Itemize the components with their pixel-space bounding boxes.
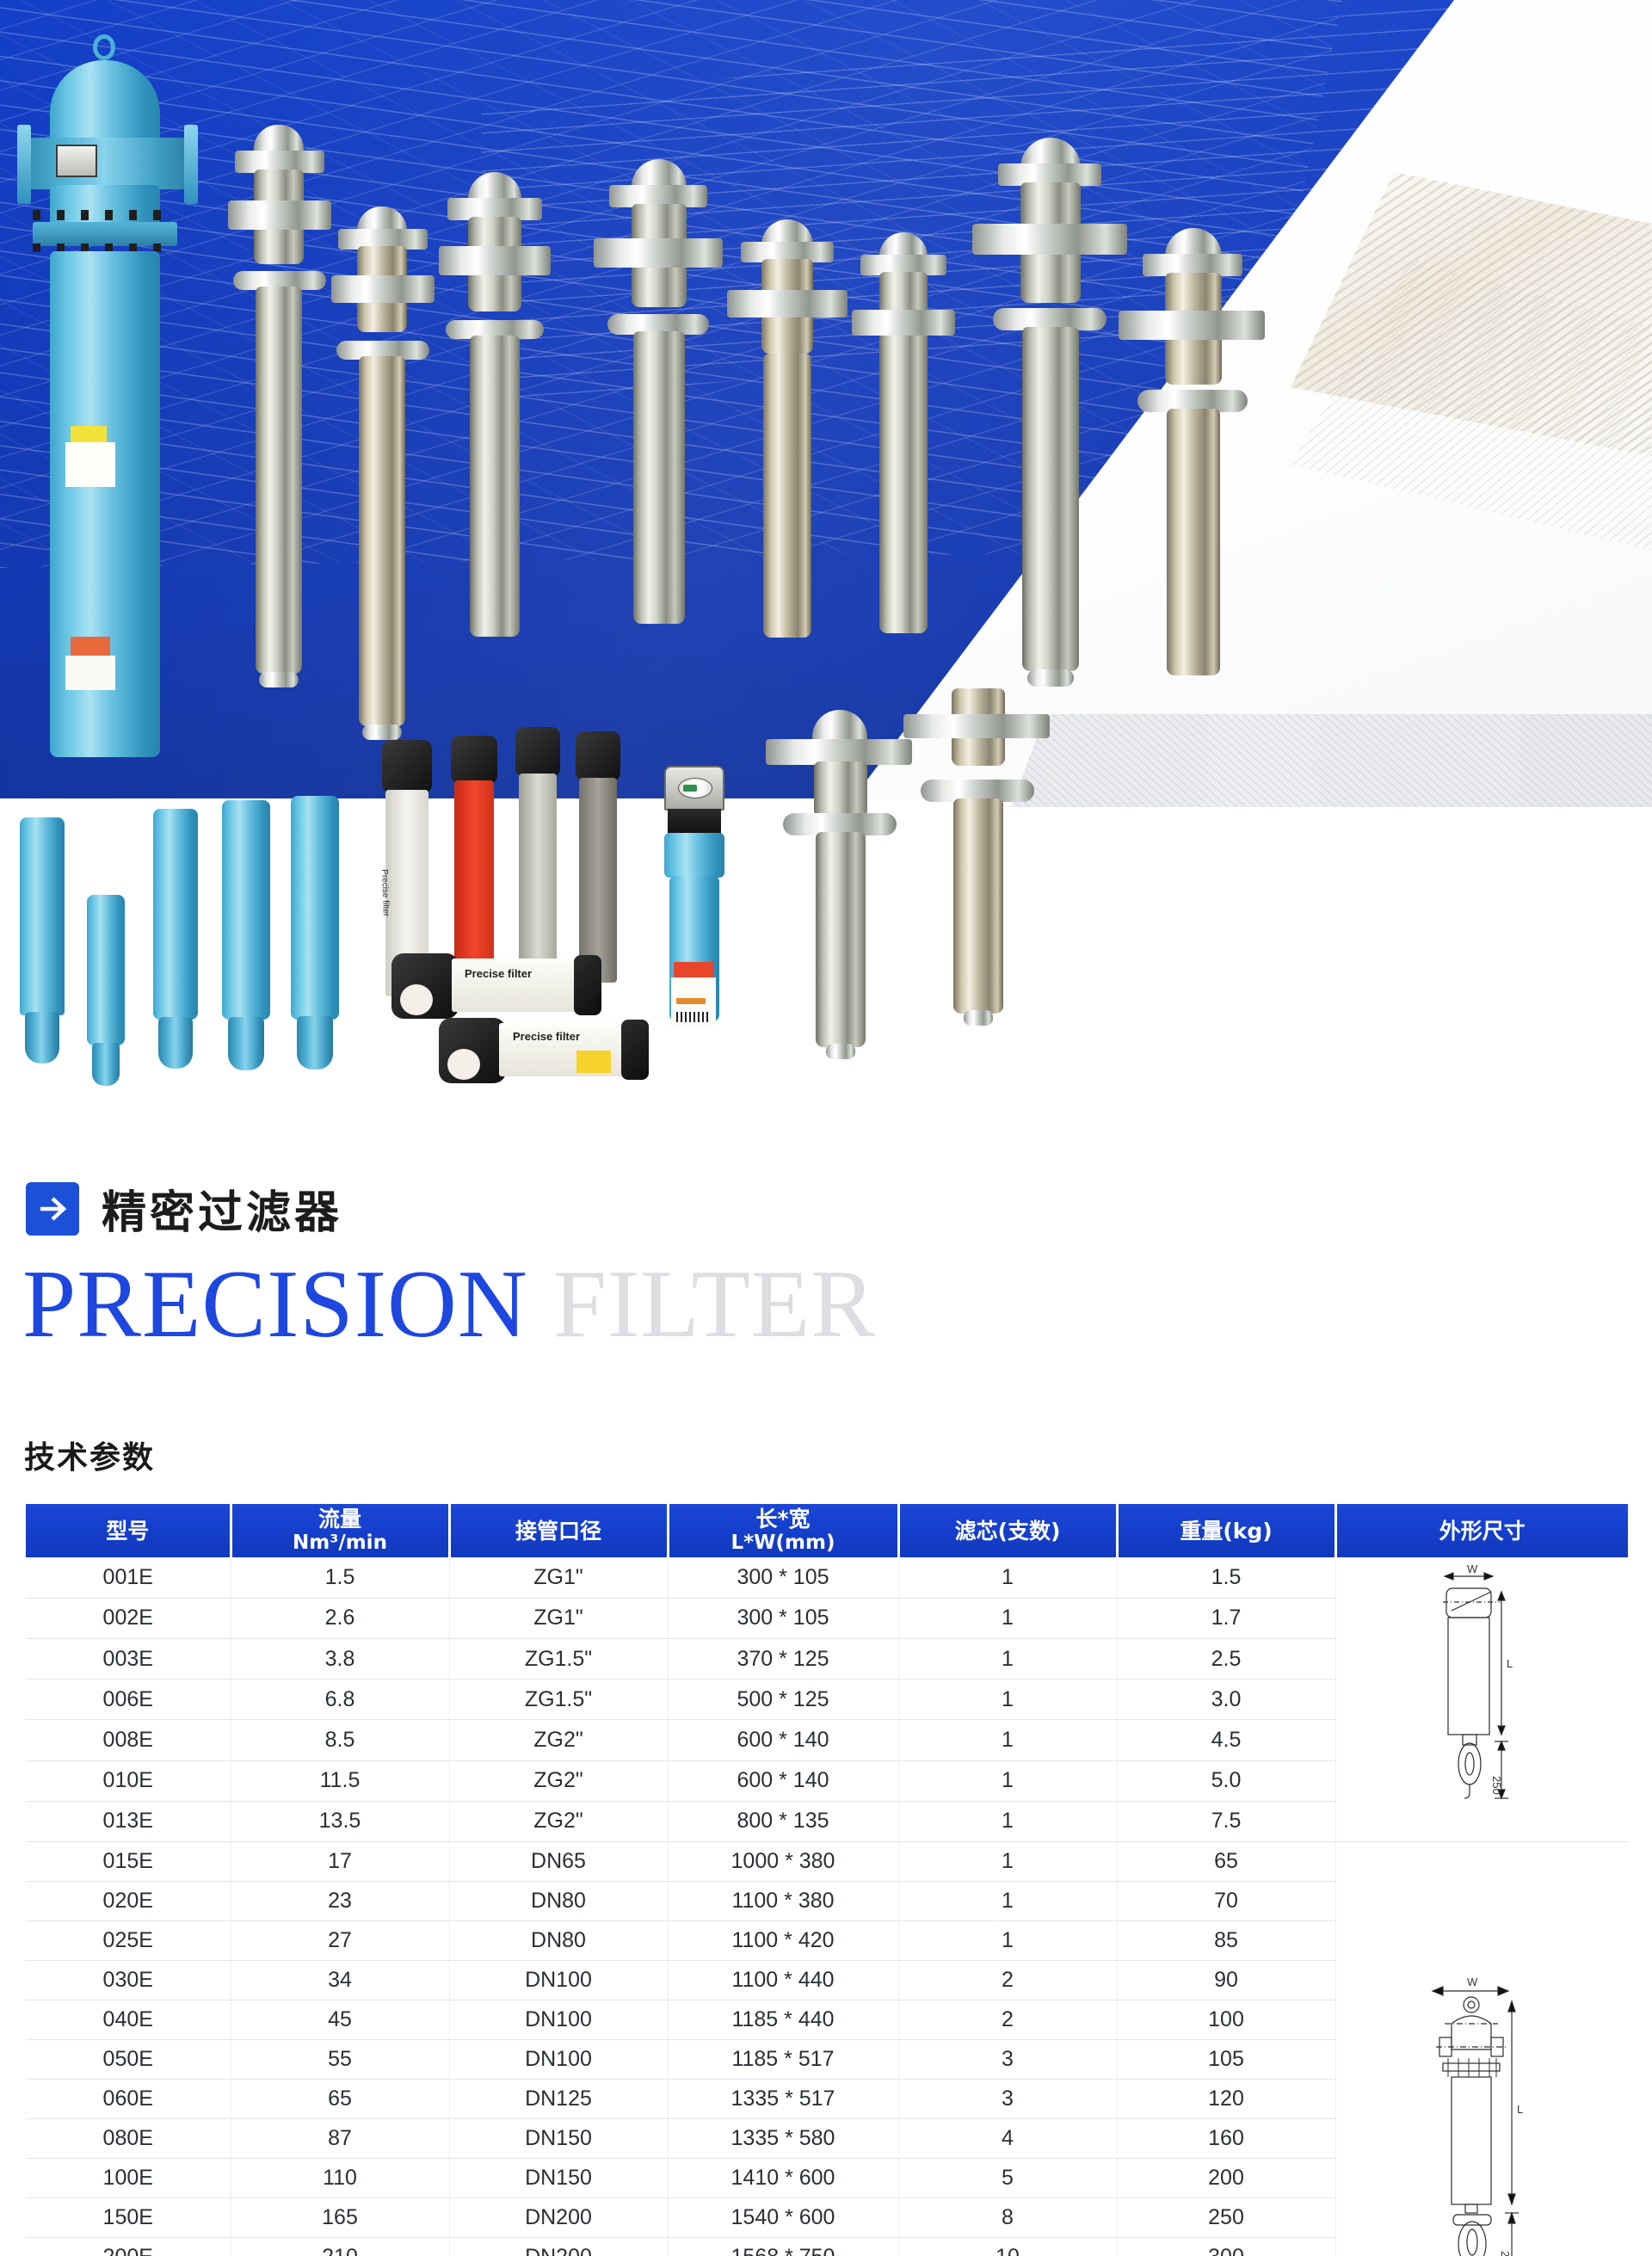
cell-weight: 7.5 [1117,1801,1335,1841]
steel-filter-vessel-6 [852,232,955,663]
cell-cartridges: 1 [898,1720,1117,1760]
cell-port: DN150 [449,2119,668,2159]
cell-cartridges: 5 [898,2159,1117,2198]
specifications-table: 型号 流量 Nm³/min 接管口径 长*宽 L*W(mm) 滤芯(支数) 重量 [26,1504,1628,2256]
catalog-page: Precise filter Precise filter Precise fi… [0,0,1652,2256]
col-header-dimensions-sub: L*W(mm) [669,1532,897,1555]
cyan-inline-filter-5 [284,796,348,1084]
cell-flow: 110 [231,2159,449,2198]
cell-port: DN100 [449,2040,668,2080]
table-header-row: 型号 流量 Nm³/min 接管口径 长*宽 L*W(mm) 滤芯(支数) 重量 [26,1504,1628,1557]
cell-port: DN80 [449,1921,668,1961]
cell-weight: 70 [1117,1882,1335,1921]
cyan-filter-with-gauge [645,766,740,1076]
tech-params-label: 技术参数 [24,1433,155,1477]
cell-cartridges: 4 [898,2119,1117,2159]
cell-weight: 90 [1117,1961,1335,2000]
cell-port: ZG2" [449,1760,668,1801]
cell-flow: 3.8 [231,1638,449,1679]
cell-flow: 165 [231,2198,449,2238]
chinese-title-row: 精密过滤器 [0,1157,1652,1241]
cartridge-brand-label-2: Precise filter [513,1030,580,1043]
cell-port: DN100 [449,1961,668,2000]
cell-dimensions: 600 * 140 [668,1720,898,1760]
col-header-flow-main: 流量 [318,1507,361,1532]
cyan-inline-filter-3 [146,809,206,1084]
cell-dimensions: 1335 * 517 [668,2080,898,2119]
page-title-en-weak: FILTER [553,1251,876,1358]
col-header-dimensions: 长*宽 L*W(mm) [668,1504,898,1557]
cell-dimensions: 500 * 125 [668,1680,898,1720]
cell-dimensions: 800 * 135 [668,1801,898,1841]
steel-filter-vessel-4 [594,159,723,641]
cell-cartridges: 3 [898,2080,1117,2119]
cell-dimensions: 1185 * 517 [668,2040,898,2080]
product-label [71,637,110,656]
cell-weight: 5.0 [1117,1760,1335,1801]
cell-model: 008E [26,1720,231,1760]
steel-filter-vessel-1 [228,125,331,693]
cell-model: 003E [26,1638,231,1679]
cell-model: 015E [26,1842,231,1882]
arrow-right-icon [26,1182,79,1236]
large-filter-outline-drawing: W L 250 [1383,1967,1581,2256]
cell-cartridges: 2 [898,2000,1117,2040]
steel-filter-vessel-8 [1119,228,1265,710]
cell-model: 002E [26,1598,231,1638]
cell-cartridges: 10 [898,2238,1117,2256]
cell-flow: 27 [231,1921,449,1961]
col-header-cartridges: 滤芯(支数) [898,1504,1117,1557]
col-header-outline-main: 外形尺寸 [1439,1519,1526,1544]
nameplate [56,145,97,177]
cell-flow: 34 [231,1961,449,2000]
cell-flow: 17 [231,1842,449,1882]
cell-model: 060E [26,2080,231,2119]
cell-model: 006E [26,1680,231,1720]
cell-model: 020E [26,1882,231,1921]
cell-flow: 13.5 [231,1801,449,1841]
cartridge-brand-label: Precise filter [465,967,532,980]
cell-port: DN200 [449,2238,668,2256]
col-header-flow: 流量 Nm³/min [231,1504,449,1557]
cell-cartridges: 1 [898,1842,1117,1882]
steel-filter-vessel-5 [727,219,848,684]
cell-dimensions: 1100 * 440 [668,1961,898,2000]
cell-dimensions: 1000 * 380 [668,1842,898,1882]
hero-hatched-band [1011,714,1652,807]
cell-port: DN80 [449,1882,668,1921]
cell-port: DN125 [449,2080,668,2119]
steel-filter-vessel-lower-2 [903,688,1050,1050]
cell-weight: 100 [1117,2000,1335,2040]
cell-cartridges: 1 [898,1680,1117,1720]
steel-filter-vessel-2 [331,206,435,757]
filter-cartridge-horizontal-2: Precise filter [439,1011,654,1088]
cell-weight: 120 [1117,2080,1335,2119]
cell-weight: 250 [1117,2198,1335,2238]
svg-text:250: 250 [1499,2251,1512,2256]
table-row: 001E1.5ZG1"300 * 10511.5 W L 250 [26,1557,1628,1598]
cell-weight: 1.7 [1117,1598,1335,1638]
cell-port: DN150 [449,2159,668,2198]
gauge-filter-red-label [674,962,713,977]
cell-dimensions: 1540 * 600 [668,2198,898,2238]
cell-port: ZG2" [449,1801,668,1841]
cell-dimensions: 1100 * 380 [668,1882,898,1921]
cell-weight: 3.0 [1117,1680,1335,1720]
col-header-flow-sub: Nm³/min [232,1532,448,1555]
table-body: 001E1.5ZG1"300 * 10511.5 W L 250 002E2.6… [26,1557,1628,2256]
steel-filter-vessel-7 [972,138,1127,706]
cell-cartridges: 1 [898,1921,1117,1961]
cell-weight: 200 [1117,2159,1335,2198]
pressure-gauge-icon [664,766,724,811]
cell-model: 100E [26,2159,231,2198]
cell-flow: 45 [231,2000,449,2040]
cell-weight: 300 [1117,2238,1335,2256]
cell-cartridges: 1 [898,1638,1117,1679]
cell-dimensions: 300 * 105 [668,1598,898,1638]
cartridge-end-cap [382,740,432,793]
col-header-port-main: 接管口径 [515,1519,601,1544]
cell-port: ZG1.5" [449,1680,668,1720]
cartridge-brand-text: Precise filter [377,869,391,907]
cell-weight: 65 [1117,1842,1335,1882]
cell-dimensions: 300 * 105 [668,1557,898,1598]
cell-model: 025E [26,1921,231,1961]
cell-dimensions: 1335 * 580 [668,2119,898,2159]
cell-flow: 23 [231,1882,449,1921]
small-filter-outline-drawing: W L 250 [1391,1557,1572,1841]
outline-drawing-cell-small: W L 250 [1335,1557,1628,1842]
cell-model: 150E [26,2198,231,2238]
cell-flow: 8.5 [231,1720,449,1760]
svg-text:250: 250 [1490,1776,1503,1795]
cell-weight: 1.5 [1117,1557,1335,1598]
col-header-port: 接管口径 [449,1504,668,1557]
title-block: 精密过滤器 PRECISION FILTER [0,1157,1652,1356]
cell-model: 080E [26,2119,231,2159]
cell-model: 001E [26,1557,231,1598]
table-row: 015E17DN651000 * 380165 [26,1842,1628,1882]
cell-flow: 6.8 [231,1680,449,1720]
svg-text:W: W [1467,1563,1478,1575]
cell-model: 050E [26,2040,231,2080]
page-title-cn: 精密过滤器 [102,1176,342,1241]
cell-model: 200E [26,2238,231,2256]
col-header-weight-main: 重量(kg) [1180,1519,1272,1544]
cell-flow: 2.6 [231,1598,449,1638]
cell-weight: 160 [1117,2119,1335,2159]
cell-port: ZG1" [449,1557,668,1598]
svg-text:L: L [1517,2103,1523,2116]
cell-weight: 4.5 [1117,1720,1335,1760]
steel-filter-vessel-3 [439,172,551,654]
cell-cartridges: 8 [898,2198,1117,2238]
cell-cartridges: 1 [898,1801,1117,1841]
cell-dimensions: 1568 * 750 [668,2238,898,2256]
col-header-weight: 重量(kg) [1117,1504,1335,1557]
cyan-filter-vessel-large [17,34,198,783]
cell-port: ZG2" [449,1720,668,1760]
page-title-en: PRECISION FILTER [0,1254,1652,1356]
cell-flow: 210 [231,2238,449,2256]
cell-port: DN65 [449,1842,668,1882]
col-header-model-main: 型号 [106,1519,149,1544]
col-header-dimensions-main: 长*宽 [755,1507,810,1532]
cell-flow: 87 [231,2119,449,2159]
page-title-en-strong: PRECISION [22,1251,528,1358]
cell-dimensions: 600 * 140 [668,1760,898,1801]
svg-text:L: L [1507,1657,1513,1670]
cell-model: 010E [26,1760,231,1801]
cell-flow: 65 [231,2080,449,2119]
cell-cartridges: 1 [898,1557,1117,1598]
lifting-eye-icon [93,34,115,60]
cell-dimensions: 1100 * 420 [668,1921,898,1961]
cell-dimensions: 1185 * 440 [668,2000,898,2040]
cyan-inline-filter-4 [215,800,279,1084]
cell-cartridges: 2 [898,1961,1117,2000]
cell-cartridges: 1 [898,1598,1117,1638]
cell-weight: 85 [1117,1921,1335,1961]
col-header-outline: 外形尺寸 [1335,1504,1628,1557]
hero-product-image: Precise filter Precise filter Precise fi… [0,0,1652,1157]
cell-dimensions: 1410 * 600 [668,2159,898,2198]
warning-label [71,426,107,443]
cell-flow: 55 [231,2040,449,2080]
cell-flow: 1.5 [231,1557,449,1598]
svg-text:W: W [1467,1976,1478,1988]
cell-port: DN100 [449,2000,668,2040]
outline-drawing-cell-large: W L 250 [1335,1842,1628,2256]
cell-port: ZG1.5" [449,1638,668,1679]
cyan-inline-filter-2 [82,895,133,1093]
cell-flow: 11.5 [231,1760,449,1801]
cell-cartridges: 1 [898,1760,1117,1801]
cell-model: 030E [26,1961,231,2000]
steel-filter-vessel-lower-1 [766,710,912,1071]
bolted-flange [33,222,177,246]
cell-weight: 2.5 [1117,1638,1335,1679]
cell-weight: 105 [1117,2040,1335,2080]
cyan-inline-filter-1 [13,817,73,1076]
cell-cartridges: 3 [898,2040,1117,2080]
cell-cartridges: 1 [898,1882,1117,1921]
cell-dimensions: 370 * 125 [668,1638,898,1679]
cell-model: 040E [26,2000,231,2040]
col-header-cartridges-main: 滤芯(支数) [955,1519,1061,1544]
cell-model: 013E [26,1801,231,1841]
cell-port: DN200 [449,2198,668,2238]
cell-port: ZG1" [449,1598,668,1638]
col-header-model: 型号 [26,1504,231,1557]
